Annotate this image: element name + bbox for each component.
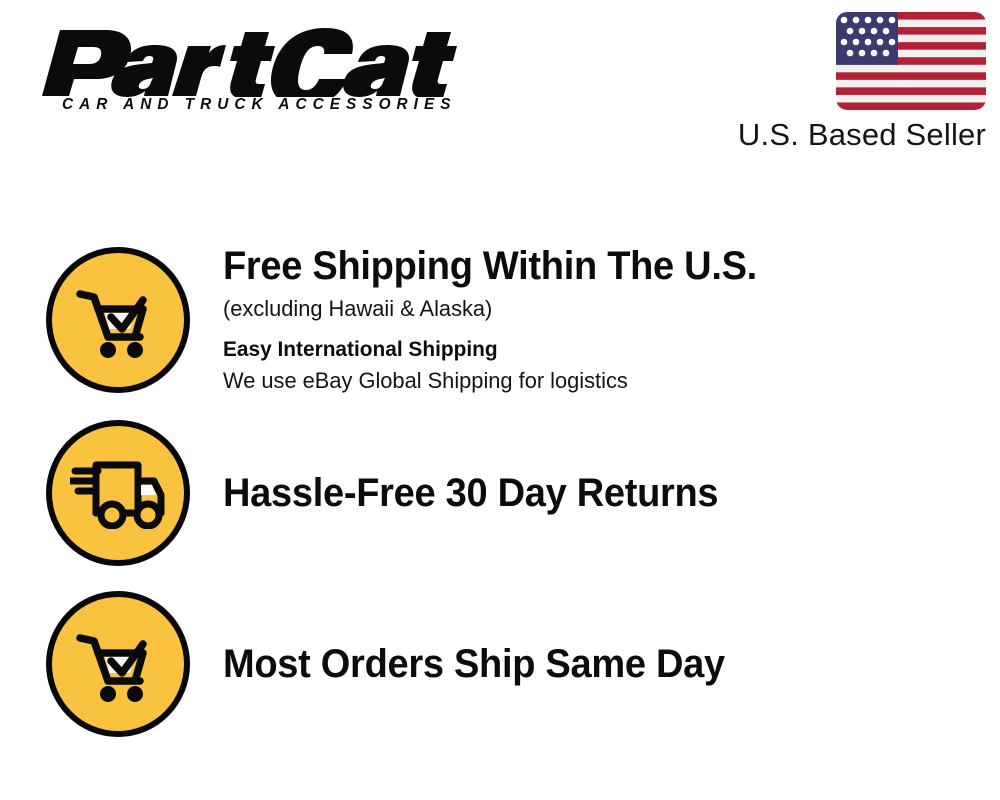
feature-text-block: Free Shipping Within The U.S. (excluding… — [223, 245, 1000, 395]
shopping-cart-check-icon — [46, 591, 190, 737]
feature-note: (excluding Hawaii & Alaska) — [223, 294, 957, 323]
feature-row: Hassle-Free 30 Day Returns — [0, 415, 1000, 571]
partcatalog-wordmark-icon — [22, 22, 487, 97]
page-header: CAR AND TRUCK ACCESSORIES — [0, 0, 1000, 180]
us-flag-icon — [836, 12, 986, 110]
feature-text-block: Most Orders Ship Same Day — [223, 643, 1000, 685]
feature-text-block: Hassle-Free 30 Day Returns — [223, 472, 1000, 514]
feature-list: Free Shipping Within The U.S. (excluding… — [0, 180, 1000, 800]
brand-tagline: CAR AND TRUCK ACCESSORIES — [62, 96, 457, 114]
feature-title: Hassle-Free 30 Day Returns — [223, 472, 942, 514]
feature-sub-heading: Easy International Shipping — [223, 336, 957, 364]
delivery-truck-icon — [46, 420, 190, 566]
us-based-seller-badge: U.S. Based Seller — [716, 12, 986, 152]
brand-logo[interactable]: CAR AND TRUCK ACCESSORIES — [22, 22, 492, 97]
shopping-cart-check-icon — [46, 247, 190, 393]
us-based-seller-label: U.S. Based Seller — [716, 118, 986, 152]
feature-title: Free Shipping Within The U.S. — [223, 245, 942, 287]
feature-row: Free Shipping Within The U.S. (excluding… — [0, 242, 1000, 398]
feature-sub-text: We use eBay Global Shipping for logistic… — [223, 366, 957, 395]
feature-title: Most Orders Ship Same Day — [223, 643, 942, 685]
feature-row: Most Orders Ship Same Day — [0, 586, 1000, 742]
